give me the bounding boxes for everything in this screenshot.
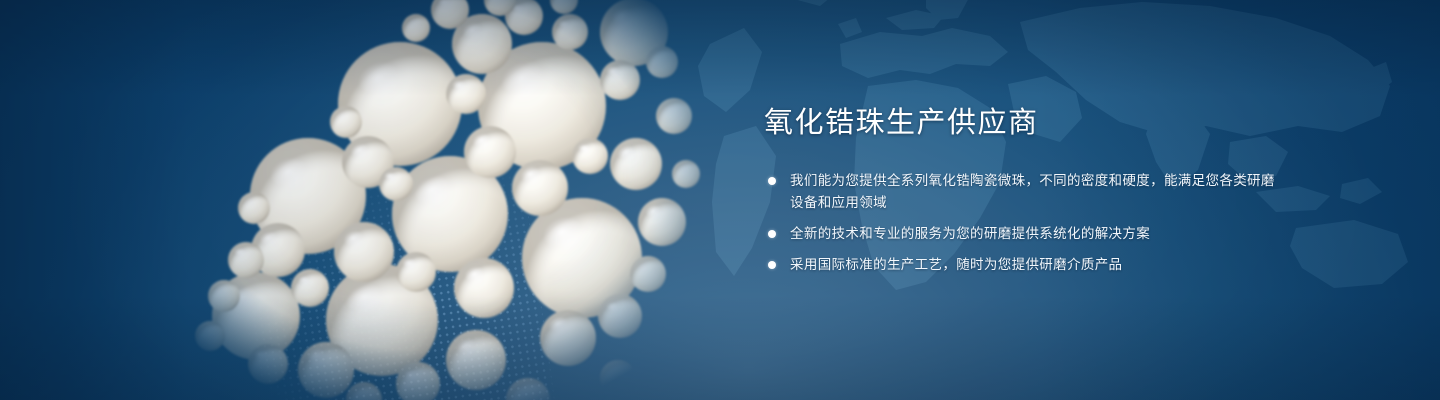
banner-feature-list: 我们能为您提供全系列氧化锆陶瓷微珠，不同的密度和硬度，能满足您各类研磨设备和应用… (764, 170, 1284, 276)
feature-item-1: 我们能为您提供全系列氧化锆陶瓷微珠，不同的密度和硬度，能满足您各类研磨设备和应用… (764, 170, 1284, 214)
feature-item-2: 全新的技术和专业的服务为您的研磨提供系统化的解决方案 (764, 223, 1284, 245)
bullet-dot-icon (768, 177, 776, 185)
banner-copy-block: 氧化锆珠生产供应商 我们能为您提供全系列氧化锆陶瓷微珠，不同的密度和硬度，能满足… (764, 104, 1284, 276)
hero-banner: 氧化锆珠生产供应商 我们能为您提供全系列氧化锆陶瓷微珠，不同的密度和硬度，能满足… (0, 0, 1440, 400)
bullet-dot-icon (768, 230, 776, 238)
feature-item-3: 采用国际标准的生产工艺，随时为您提供研磨介质产品 (764, 254, 1284, 276)
feature-item-1-text: 我们能为您提供全系列氧化锆陶瓷微珠，不同的密度和硬度，能满足您各类研磨设备和应用… (790, 173, 1275, 210)
banner-headline: 氧化锆珠生产供应商 (764, 104, 1284, 142)
feature-item-3-text: 采用国际标准的生产工艺，随时为您提供研磨介质产品 (790, 257, 1122, 272)
bullet-dot-icon (768, 261, 776, 269)
feature-item-2-text: 全新的技术和专业的服务为您的研磨提供系统化的解决方案 (790, 226, 1150, 241)
